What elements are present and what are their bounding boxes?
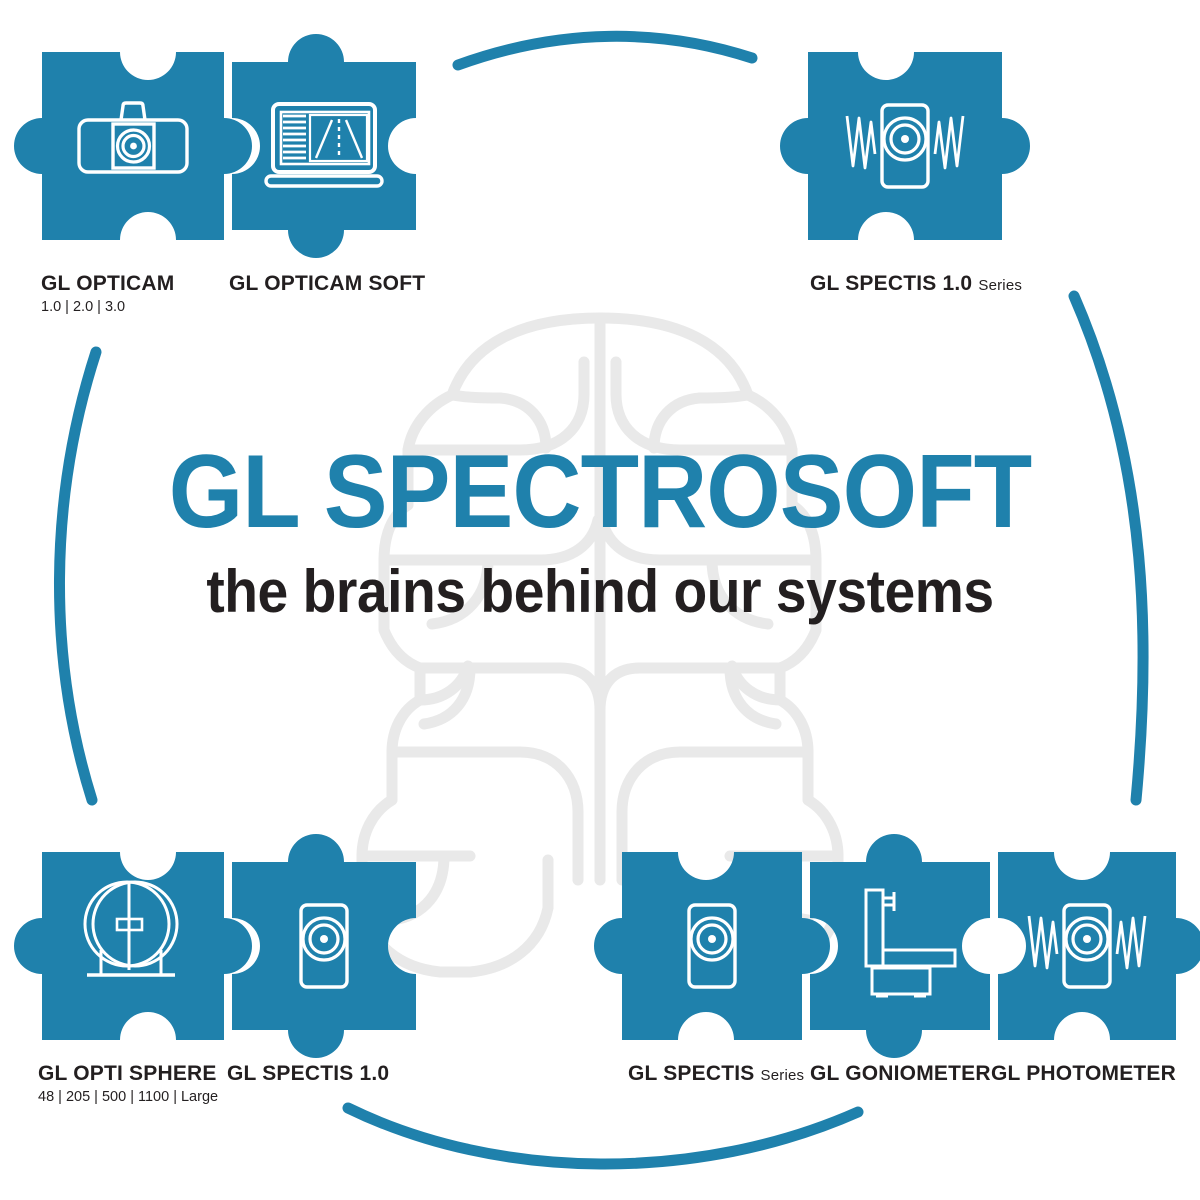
puzzle-piece-opti-sphere <box>14 852 252 1040</box>
label-opticam: GL OPTICAM 1.0 | 2.0 | 3.0 <box>41 272 174 315</box>
label-spectis-series-title: GL SPECTIS Series <box>628 1062 804 1086</box>
label-opti-sphere: GL OPTI SPHERE 48 | 205 | 500 | 1100 | L… <box>38 1062 218 1105</box>
label-opticam-title: GL OPTICAM <box>41 272 174 296</box>
label-spectis-10-name: GL SPECTIS 1.0 <box>810 272 972 295</box>
infographic-canvas: GL OPTICAM 1.0 | 2.0 | 3.0 GL OPTICAM SO… <box>0 0 1200 1200</box>
label-opticam-sub: 1.0 | 2.0 | 3.0 <box>41 299 174 315</box>
label-goniometer: GL GONIOMETER <box>810 1062 991 1086</box>
center-title-block: GL SPECTROSOFT the brains behind our sys… <box>0 440 1200 622</box>
label-spectis-series-name: GL SPECTIS <box>628 1062 754 1085</box>
puzzle-piece-spectis-series <box>594 852 830 1040</box>
label-spectis-10-title: GL SPECTIS 1.0 Series <box>810 272 1022 296</box>
page-title: GL SPECTROSOFT <box>48 440 1152 544</box>
label-spectis-10-sphere-title: GL SPECTIS 1.0 <box>227 1062 389 1086</box>
label-goniometer-title: GL GONIOMETER <box>810 1062 991 1086</box>
label-opticam-soft: GL OPTICAM SOFT <box>229 272 425 296</box>
puzzle-piece-spectis-10-sphere <box>232 834 416 1058</box>
label-spectis-series-suffix: Series <box>761 1067 805 1084</box>
page-tagline: the brains behind our systems <box>48 562 1152 622</box>
label-spectis-series: GL SPECTIS Series <box>628 1062 804 1086</box>
label-opti-sphere-sub: 48 | 205 | 500 | 1100 | Large <box>38 1089 218 1105</box>
label-spectis-10-sphere: GL SPECTIS 1.0 <box>227 1062 389 1086</box>
label-spectis-10: GL SPECTIS 1.0 Series <box>810 272 1022 296</box>
label-photometer-title: GL PHOTOMETER <box>991 1062 1176 1086</box>
label-opticam-soft-title: GL OPTICAM SOFT <box>229 272 425 296</box>
label-photometer: GL PHOTOMETER <box>991 1062 1176 1086</box>
puzzle-piece-goniometer <box>810 834 990 1058</box>
label-opti-sphere-title: GL OPTI SPHERE <box>38 1062 218 1086</box>
label-spectis-10-series: Series <box>978 277 1022 294</box>
puzzle-piece-opticam-soft <box>232 34 416 258</box>
